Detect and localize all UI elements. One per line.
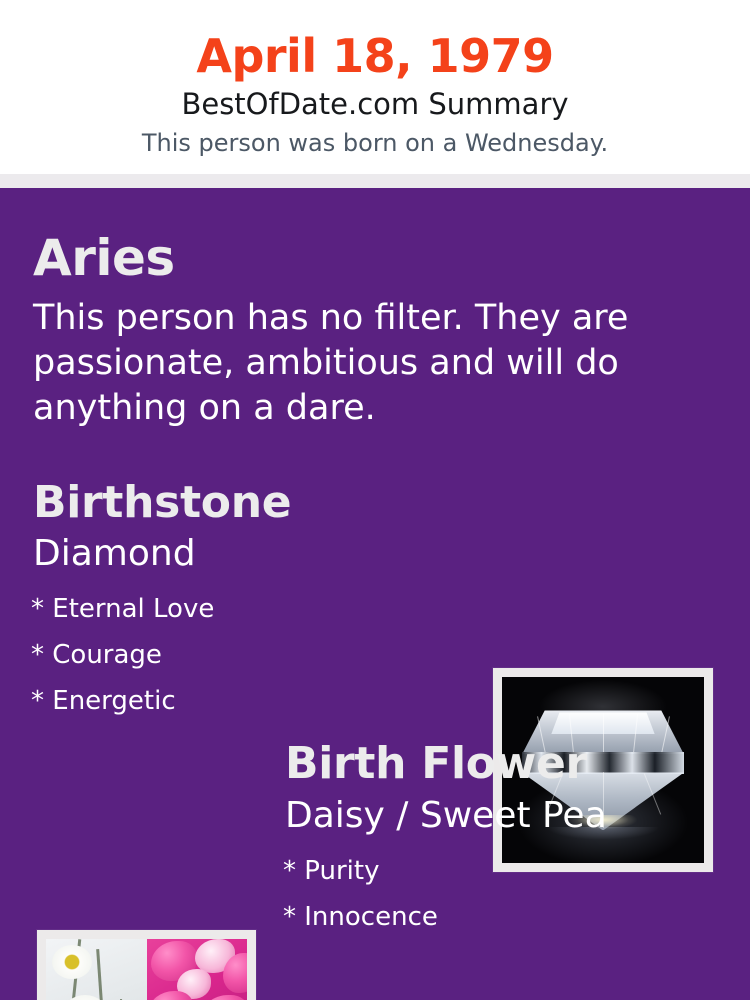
list-item: * Courage — [31, 632, 451, 678]
site-name: BestOfDate.com Summary — [0, 86, 750, 122]
born-day-line: This person was born on a Wednesday. — [0, 128, 750, 158]
header: April 18, 1979 BestOfDate.com Summary Th… — [0, 0, 750, 174]
zodiac-sign-title: Aries — [33, 229, 175, 287]
daisy-flower — [52, 945, 92, 979]
birthstone-heading: Birthstone — [33, 476, 291, 530]
summary-page: April 18, 1979 BestOfDate.com Summary Th… — [0, 0, 750, 1000]
birthstone-name: Diamond — [33, 532, 196, 576]
birth-flower-name: Daisy / Sweet Pea — [285, 794, 715, 838]
zodiac-sign-description: This person has no filter. They are pass… — [33, 296, 653, 431]
birthstone-trait-list: * Eternal Love * Courage * Energetic — [31, 586, 451, 724]
list-item: * Purity — [283, 848, 713, 894]
content-panel: Aries This person has no filter. They ar… — [0, 188, 750, 1000]
flower-split — [46, 939, 247, 1000]
birth-flower-trait-list: * Purity * Innocence — [283, 848, 713, 940]
flower-photo-frame — [37, 930, 256, 1000]
list-item: * Energetic — [31, 678, 451, 724]
header-divider — [0, 174, 750, 188]
birth-flower-heading: Birth Flower — [285, 736, 715, 792]
daisy-sweetpea-photo — [46, 939, 247, 1000]
stem — [96, 949, 107, 1000]
page-title-date: April 18, 1979 — [0, 28, 750, 84]
daisy-photo-half — [46, 939, 147, 1000]
list-item: * Innocence — [283, 894, 713, 940]
sweet-pea-photo-half — [147, 939, 248, 1000]
list-item: * Eternal Love — [31, 586, 451, 632]
sweet-pea-petal — [201, 995, 248, 1000]
